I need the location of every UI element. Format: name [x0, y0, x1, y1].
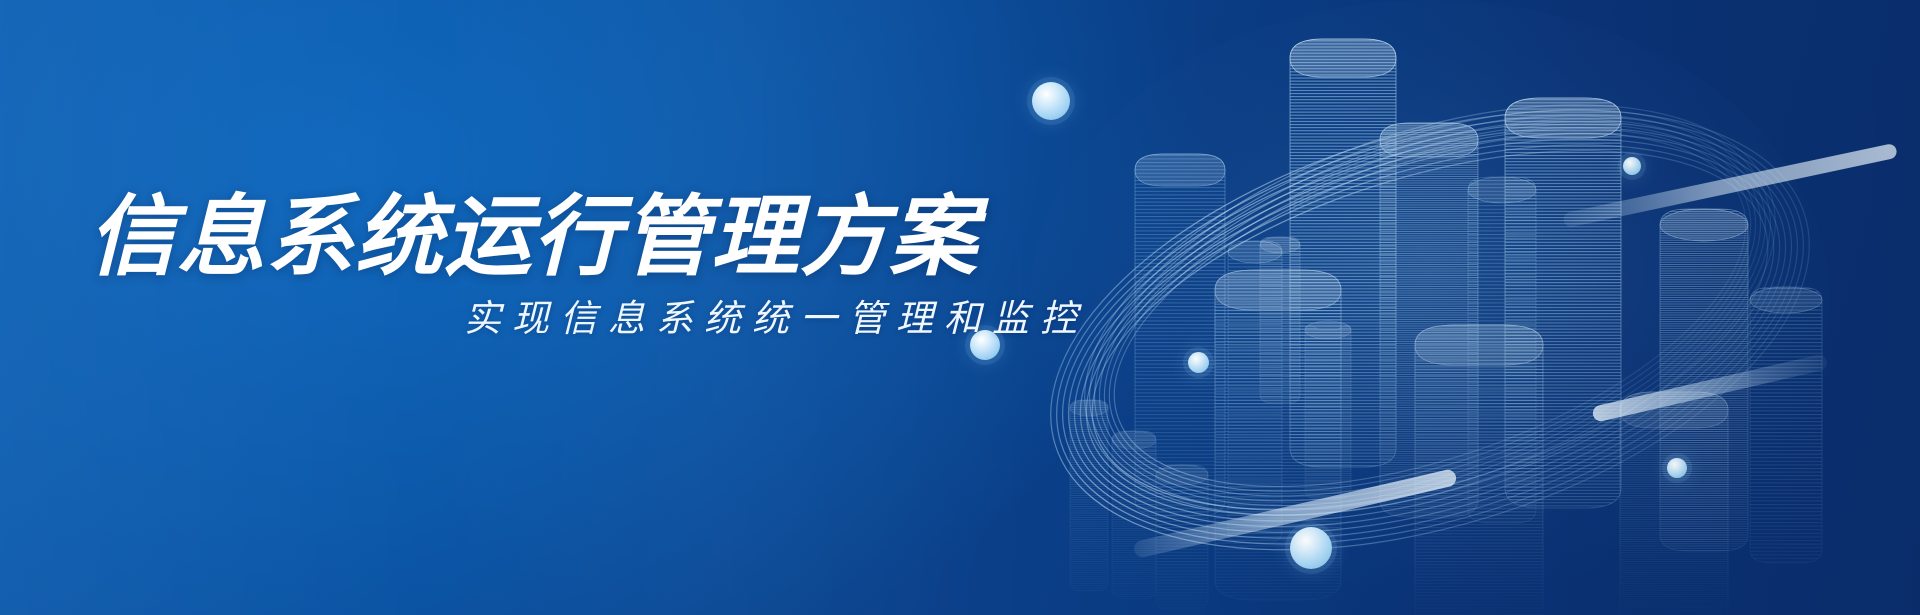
light-streak-upper-right — [1562, 143, 1898, 228]
light-streak-lower-left — [1132, 468, 1457, 559]
glow-dot-5 — [1290, 527, 1332, 569]
building-f5 — [1620, 392, 1728, 615]
building-f6 — [1070, 400, 1108, 591]
light-streak-group — [1132, 143, 1898, 559]
building-b1 — [1135, 154, 1225, 516]
banner-title: 信息系统运行管理方案 — [0, 190, 1110, 283]
glow-dot-1 — [1032, 82, 1070, 120]
hero-banner: 信息系统运行管理方案 实现信息系统统一管理和监控 — [0, 0, 1920, 615]
building-f4 — [1415, 325, 1543, 615]
building-b4 — [1380, 123, 1478, 517]
building-b2 — [1228, 241, 1282, 543]
light-streak-mid-right — [1591, 353, 1828, 423]
building-f8 — [1156, 465, 1208, 610]
building-f1 — [1260, 237, 1300, 403]
banner-subtitle: 实现信息系统统一管理和监控 — [0, 297, 1110, 341]
orbit-ring-back — [1032, 24, 1829, 595]
building-b5 — [1505, 98, 1621, 508]
building-cluster-back — [1135, 39, 1822, 563]
banner-text-block: 信息系统运行管理方案 实现信息系统统一管理和监控 — [0, 190, 1110, 342]
glow-dot-6 — [1667, 458, 1687, 478]
building-b8 — [1750, 287, 1822, 563]
building-b6 — [1468, 177, 1536, 523]
city-ambient-glow — [1030, 0, 1830, 600]
building-f3 — [1215, 270, 1341, 600]
orbit-ring-front — [998, 28, 1862, 615]
building-f2 — [1305, 321, 1351, 499]
glow-dot-3 — [1188, 352, 1209, 373]
building-b7 — [1660, 209, 1748, 551]
building-cluster-front — [1070, 237, 1728, 615]
building-b3 — [1290, 39, 1396, 467]
glow-dot-4 — [1623, 157, 1641, 175]
building-f7 — [1112, 431, 1156, 599]
